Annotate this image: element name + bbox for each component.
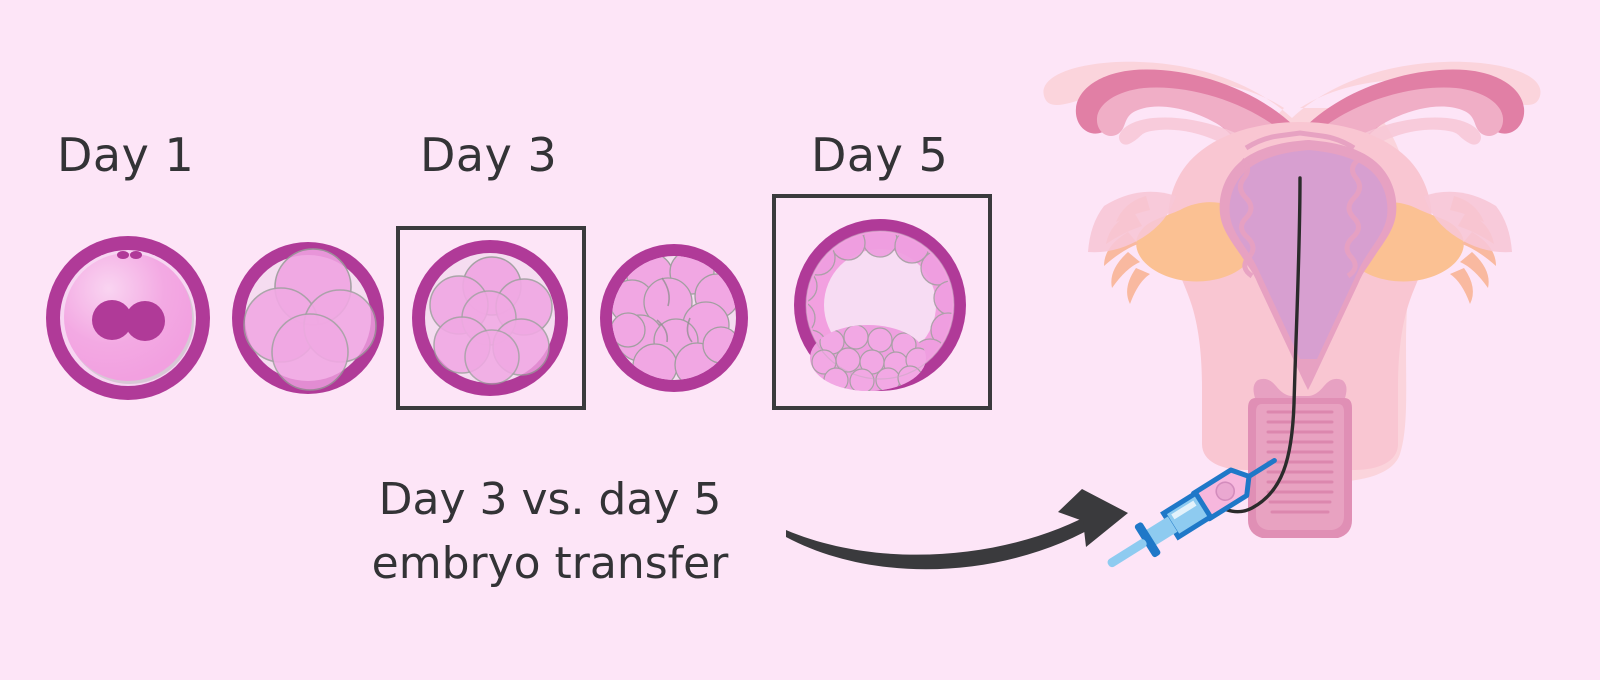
illustration-canvas: Day 1 Day 3 Day 5 Day 3 vs. day 5 embryo… [0, 0, 1600, 680]
day-5-blastocyst [781, 219, 968, 400]
day-1-zygote [46, 236, 210, 400]
caption-line-2: embryo transfer [330, 532, 770, 596]
day-3-eight-cell-embryo [412, 240, 568, 396]
uterus-diagram [1043, 62, 1540, 538]
caption-line-1: Day 3 vs. day 5 [330, 468, 770, 532]
syringe-needle [1106, 538, 1148, 569]
day-3-label: Day 3 [420, 128, 557, 182]
day-1-label: Day 1 [57, 128, 194, 182]
morula-embryo [600, 244, 748, 392]
illustration-svg [0, 0, 1600, 680]
caption-block: Day 3 vs. day 5 embryo transfer [330, 468, 770, 596]
day-5-label: Day 5 [811, 128, 948, 182]
transfer-arrow [786, 489, 1128, 569]
four-cell-embryo [232, 242, 384, 394]
